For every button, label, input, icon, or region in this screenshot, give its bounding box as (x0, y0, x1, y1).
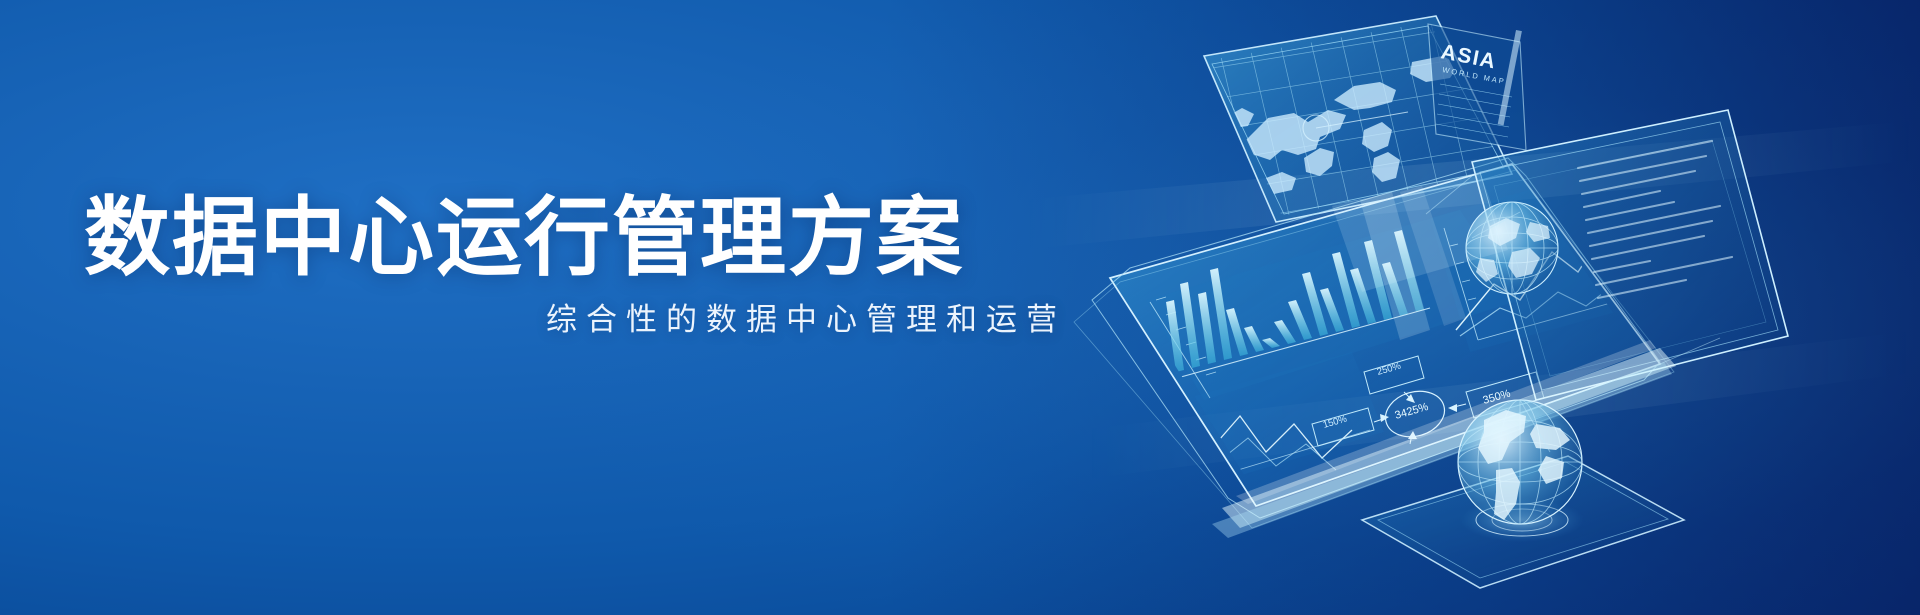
hero-copy: 数据中心运行管理方案 综合性的数据中心管理和运营 (84, 190, 1084, 341)
hud-illustration: ASIA WORLD MAP (960, 0, 1920, 615)
globe-bottom-icon (1458, 400, 1582, 524)
page-subtitle: 综合性的数据中心管理和运营 (84, 300, 1084, 340)
map-label-plate: ASIA WORLD MAP (1428, 24, 1526, 150)
page-title: 数据中心运行管理方案 (84, 190, 1084, 286)
hero-banner: ASIA WORLD MAP (0, 0, 1920, 615)
